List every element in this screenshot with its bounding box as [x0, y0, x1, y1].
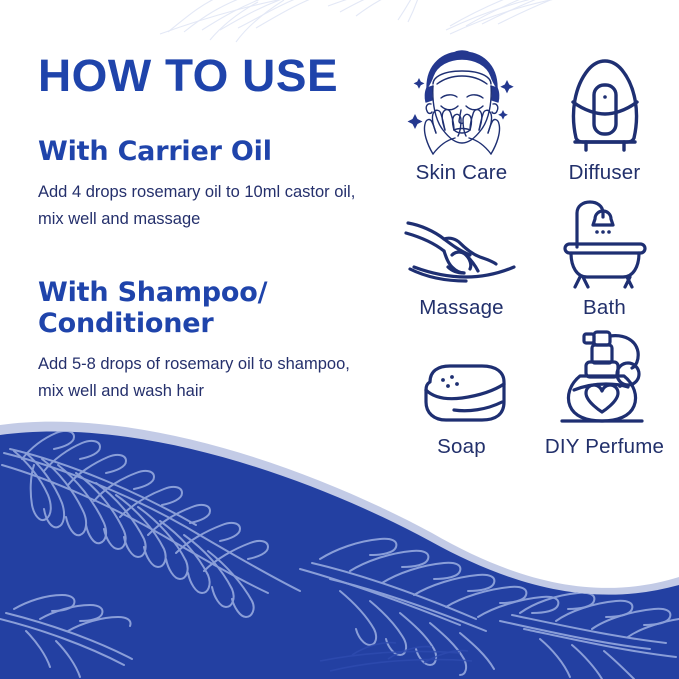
usage-item-skin-care: Skin Care: [392, 48, 531, 185]
section-body: Add 4 drops rosemary oil to 10ml castor …: [38, 179, 358, 232]
usage-item-massage: Massage: [392, 203, 531, 320]
instruction-section-carrier-oil: With Carrier Oil Add 4 drops rosemary oi…: [38, 137, 378, 232]
usage-item-label: Bath: [583, 296, 626, 320]
bottom-wave-decoration: [0, 409, 679, 679]
usage-item-label: Diffuser: [569, 161, 641, 185]
instructions-column: HOW TO USE With Carrier Oil Add 4 drops …: [38, 52, 378, 430]
section-body: Add 5-8 drops of rosemary oil to shampoo…: [38, 351, 358, 404]
diffuser-icon: [553, 48, 657, 156]
instruction-section-shampoo: With Shampoo/ Conditioner Add 5-8 drops …: [38, 278, 378, 404]
top-rosemary-decoration: [150, 0, 570, 46]
usage-item-label: Skin Care: [416, 161, 508, 185]
section-heading: With Carrier Oil: [38, 137, 378, 168]
usage-item-bath: Bath: [535, 203, 674, 320]
face-massage-icon: [403, 48, 521, 156]
how-to-use-infographic: HOW TO USE With Carrier Oil Add 4 drops …: [0, 0, 679, 679]
hand-massage-icon: [400, 203, 524, 291]
usage-item-label: Massage: [419, 296, 504, 320]
page-title: HOW TO USE: [38, 52, 385, 99]
section-heading: With Shampoo/ Conditioner: [38, 278, 378, 340]
usage-icon-grid: Skin Care: [392, 48, 674, 459]
usage-item-diffuser: Diffuser: [535, 48, 674, 185]
bathtub-shower-icon: [553, 203, 657, 291]
